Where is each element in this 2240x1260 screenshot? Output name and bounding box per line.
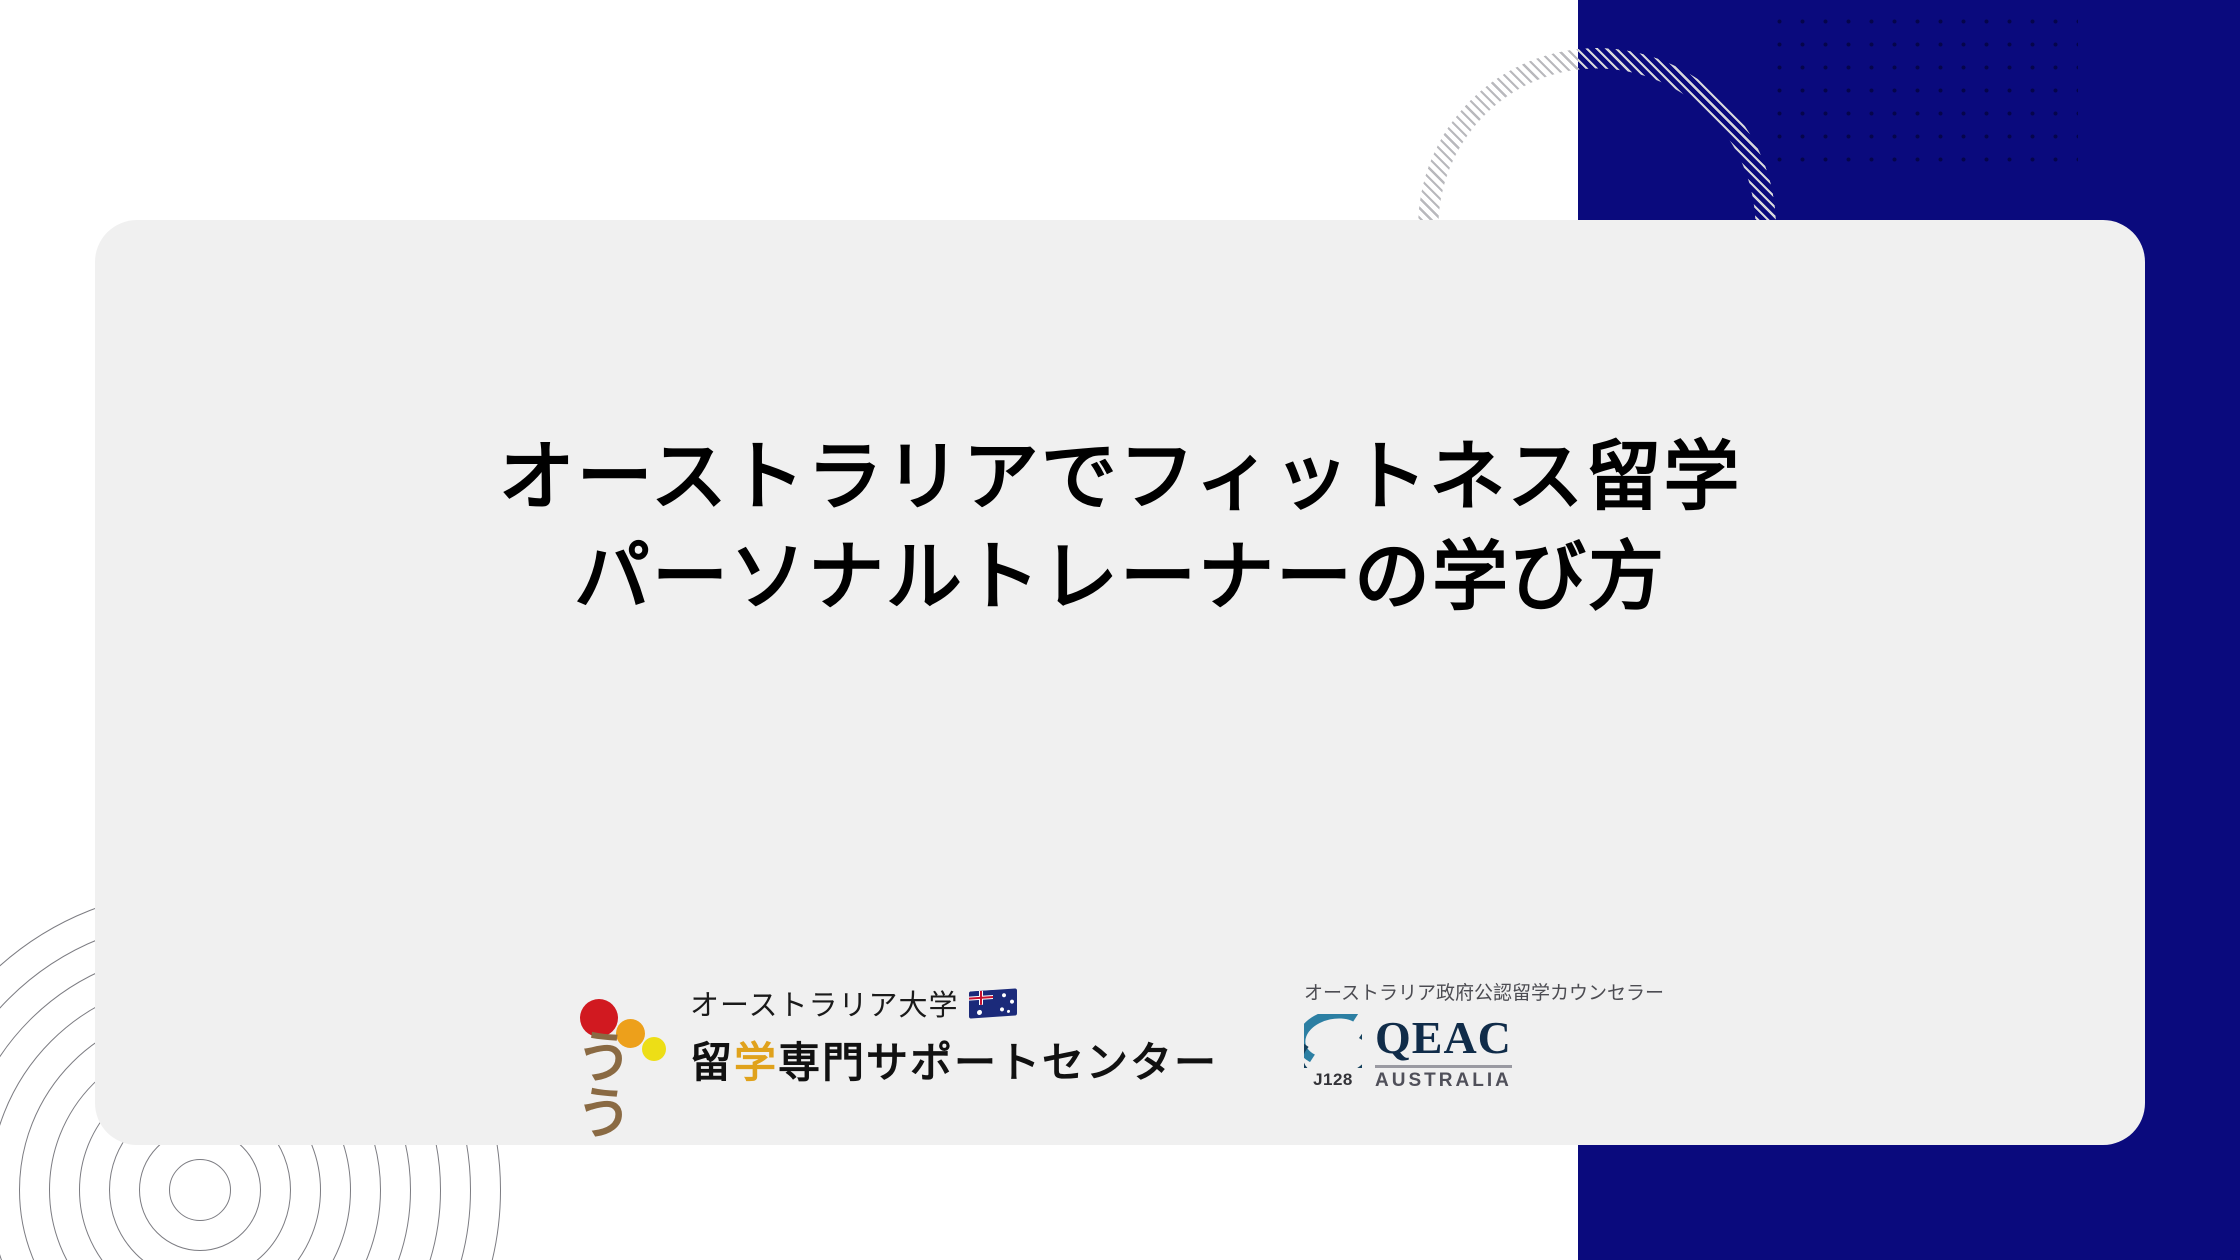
australia-flag-icon <box>969 988 1017 1018</box>
flag-star-5 <box>1007 1009 1010 1012</box>
flag-cross-v <box>980 990 982 1004</box>
logo-row: うう オーストラリア大学 <box>95 978 2145 1090</box>
qeac-logo-body: J128 QEAC AUSTRALIA <box>1304 1014 1512 1090</box>
page-title: オーストラリアでフィットネス留学 パーソナルトレーナーの学び方 <box>95 428 2145 629</box>
flag-star-2 <box>1002 993 1006 997</box>
qeac-wordmark: QEAC <box>1375 1015 1512 1061</box>
flag-star-1 <box>977 1009 982 1014</box>
qeac-caption: オーストラリア政府公認留学カウンセラー <box>1304 978 1664 1005</box>
ww-glyph-icon: うう <box>576 1031 672 1143</box>
ryugaku-logo-line-1-text: オーストラリア大学 <box>690 982 959 1024</box>
column-header-banner: COLUMN オーストラリアでフィットネス留学 パーソナルトレーナーの学び方 <box>0 0 2240 1260</box>
content-card: オーストラリアでフィットネス留学 パーソナルトレーナーの学び方 うう オーストラ… <box>95 220 2145 1145</box>
ryugaku-logo-line-2: 留学専門サポートセンター <box>690 1029 1218 1090</box>
qeac-mark-wrap: J128 <box>1304 1014 1362 1090</box>
qeac-divider <box>1375 1065 1512 1068</box>
flag-star-4 <box>1000 1007 1004 1011</box>
three-dots-ww-logo-icon: うう <box>576 993 672 1079</box>
qeac-wordmark-wrap: QEAC AUSTRALIA <box>1375 1015 1512 1090</box>
flag-star-3 <box>1010 999 1014 1003</box>
title-line-1: オーストラリアでフィットネス留学 <box>95 428 2145 528</box>
dot-grid-pattern-icon <box>1768 10 2078 180</box>
qeac-globe-icon <box>1304 1014 1362 1068</box>
qeac-subtitle: AUSTRALIA <box>1375 1071 1512 1090</box>
ryugaku-logo-line-2-gold: 学 <box>734 1041 778 1087</box>
ryugaku-logo-text: オーストラリア大学 留学専門サポートセン <box>690 982 1218 1090</box>
ryugaku-logo-line-2-a: 留 <box>690 1041 734 1087</box>
ryugaku-logo-line-2-b: 専門サポートセンター <box>778 1041 1218 1087</box>
ryugaku-logo-line-1: オーストラリア大学 <box>690 982 1218 1024</box>
ryugaku-support-center-logo: うう オーストラリア大学 <box>576 982 1218 1090</box>
qeac-logo: オーストラリア政府公認留学カウンセラー J128 QEAC AUSTRALIA <box>1304 978 1664 1090</box>
qeac-counsellor-code: J128 <box>1313 1070 1353 1090</box>
title-line-2: パーソナルトレーナーの学び方 <box>95 528 2145 628</box>
